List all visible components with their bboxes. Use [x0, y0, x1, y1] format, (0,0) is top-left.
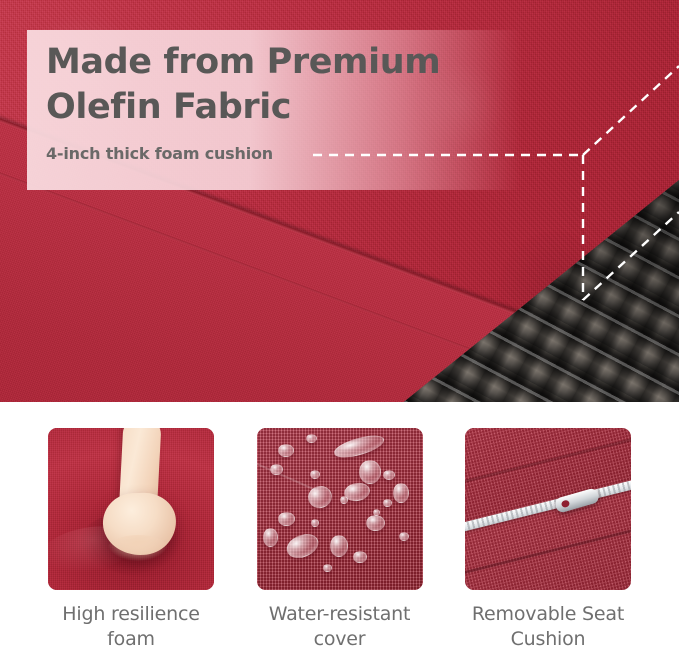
- feature-caption: High resilience foam: [31, 602, 231, 652]
- feature-item-high-resilience-foam: High resilience foam: [40, 428, 222, 652]
- hero-headline: Made from Premium Olefin Fabric: [46, 40, 516, 130]
- feature-caption: Removable Seat Cushion: [448, 602, 648, 652]
- feature-item-removable-seat-cushion: Removable Seat Cushion: [457, 428, 639, 652]
- water-droplets-on-fabric-photo: [257, 428, 423, 590]
- fist-pressing-cushion-photo: [48, 428, 214, 590]
- feature-caption: Water-resistant cover: [240, 602, 440, 652]
- feature-strip: High resilience foam: [0, 402, 679, 652]
- feature-item-water-resistant-cover: Water-resistant cover: [249, 428, 431, 652]
- hero-subline: 4-inch thick foam cushion: [46, 144, 273, 163]
- zipper-on-cushion-photo: [465, 428, 631, 590]
- hero-panel: Made from Premium Olefin Fabric 4-inch t…: [0, 0, 679, 402]
